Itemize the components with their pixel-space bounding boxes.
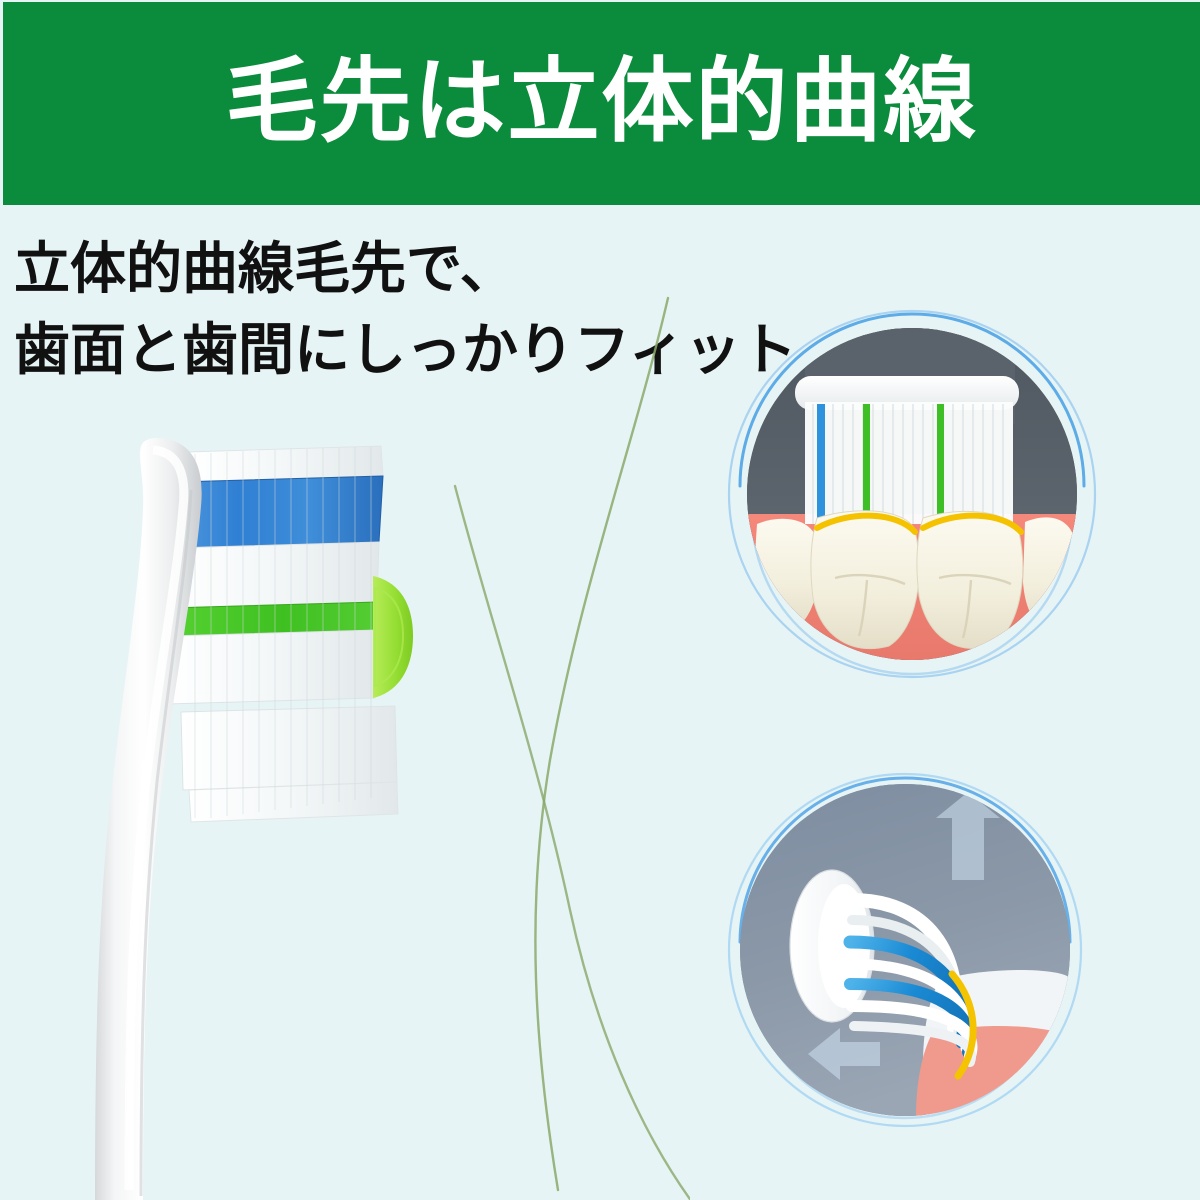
bristle-stripe-green-left (863, 404, 870, 524)
inset-vertical-loop: 垂直面はループ状 (700, 770, 1130, 1130)
inset-scene-vertical (740, 784, 1070, 1116)
stem-line-2 (455, 486, 690, 1200)
bristle-stripe-green-right (937, 404, 944, 524)
rubber-polisher (373, 576, 413, 698)
bristle-field (167, 446, 413, 822)
stem-line-1 (535, 298, 668, 1190)
brush-handle (95, 438, 202, 1200)
tooth-molar-left (811, 511, 919, 649)
bristle-band-blue (175, 476, 383, 548)
inset-horizontal-wave: 水平面は波状 (700, 300, 1120, 700)
subtitle-line-2: 歯面と歯間にしっかりフィット (14, 309, 774, 390)
toothbrush-head-illustration (95, 430, 475, 1200)
bristle-stripe-blue (817, 404, 825, 528)
inset-scene-horizontal (747, 328, 1077, 660)
tooth-molar-right (917, 511, 1023, 648)
bristle-band-white-upper (169, 542, 379, 608)
subtitle-line-1: 立体的曲線毛先で、 (14, 228, 774, 309)
page-title: 毛先は立体的曲線 (225, 56, 977, 148)
bristle-mass (805, 402, 1013, 524)
bristle-band-white-lower (181, 706, 397, 790)
inset-photo-vertical (740, 784, 1070, 1116)
infographic-page: 毛先は立体的曲線 立体的曲線毛先で、 歯面と歯間にしっかりフィット (0, 0, 1200, 1200)
subtitle-block: 立体的曲線毛先で、 歯面と歯間にしっかりフィット (14, 228, 774, 390)
bristle-band-white-middle (167, 630, 376, 704)
inset-photo-horizontal (747, 328, 1077, 660)
header-banner: 毛先は立体的曲線 (3, 2, 1200, 205)
bristle-block (805, 402, 1013, 528)
